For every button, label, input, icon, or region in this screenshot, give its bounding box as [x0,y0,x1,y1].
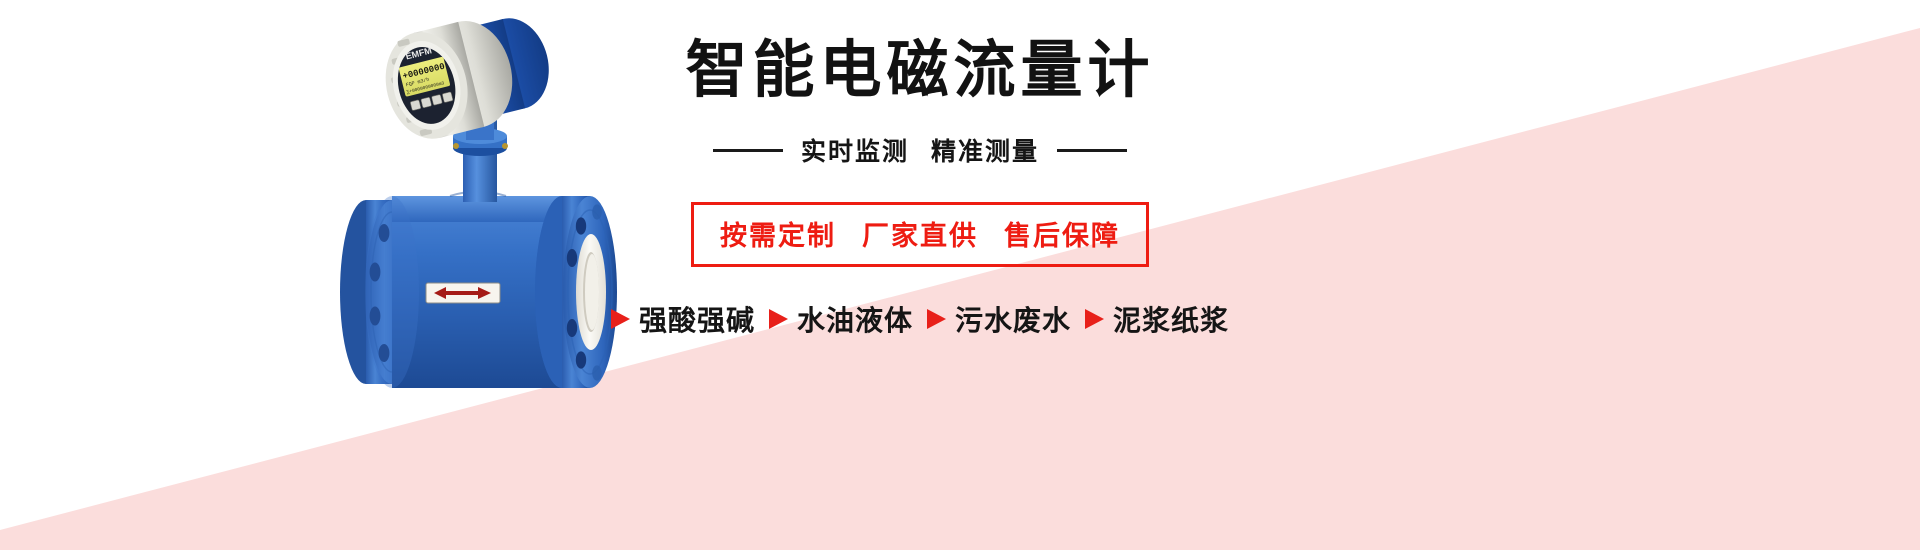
page-title: 智能电磁流量计 [600,40,1240,102]
flow-direction-plate [426,283,500,303]
promo-item-3: 售后保障 [1004,221,1120,251]
promo-item-2: 厂家直供 [862,221,978,251]
subtitle-text: 实时监测精准测量 [801,132,1039,168]
subtitle-rule-right [1057,149,1127,152]
feature-label: 强酸强碱 [639,299,755,339]
feature-label: 水油液体 [797,299,913,339]
product-banner: EMFM +0000000 FQP m3/h ∑+0000000000m3 智能… [0,0,1920,550]
list-item: 泥浆纸浆 [1085,299,1229,339]
transmitter-head: EMFM +0000000 FQP m3/h ∑+0000000000m3 [375,3,560,147]
feature-label: 泥浆纸浆 [1113,299,1229,339]
feature-list: 强酸强碱 水油液体 污水废水 泥浆纸浆 [600,299,1240,339]
arrow-right-icon [1085,309,1104,329]
subtitle-left: 实时监测 [801,138,909,166]
promo-text: 按需定制厂家直供售后保障 [720,214,1120,253]
list-item: 强酸强碱 [611,299,755,339]
arrow-right-icon [611,309,630,329]
promo-badge: 按需定制厂家直供售后保障 [691,202,1149,267]
banner-copy: 智能电磁流量计 实时监测精准测量 按需定制厂家直供售后保障 强酸强碱 水油液体 … [600,40,1240,360]
list-item: 污水废水 [927,299,1071,339]
list-item: 水油液体 [769,299,913,339]
arrow-right-icon [927,309,946,329]
subtitle-right: 精准测量 [931,138,1039,166]
subtitle-rule-left [713,149,783,152]
arrow-right-icon [769,309,788,329]
subtitle-row: 实时监测精准测量 [600,132,1240,168]
promo-item-1: 按需定制 [720,221,836,251]
feature-label: 污水废水 [955,299,1071,339]
